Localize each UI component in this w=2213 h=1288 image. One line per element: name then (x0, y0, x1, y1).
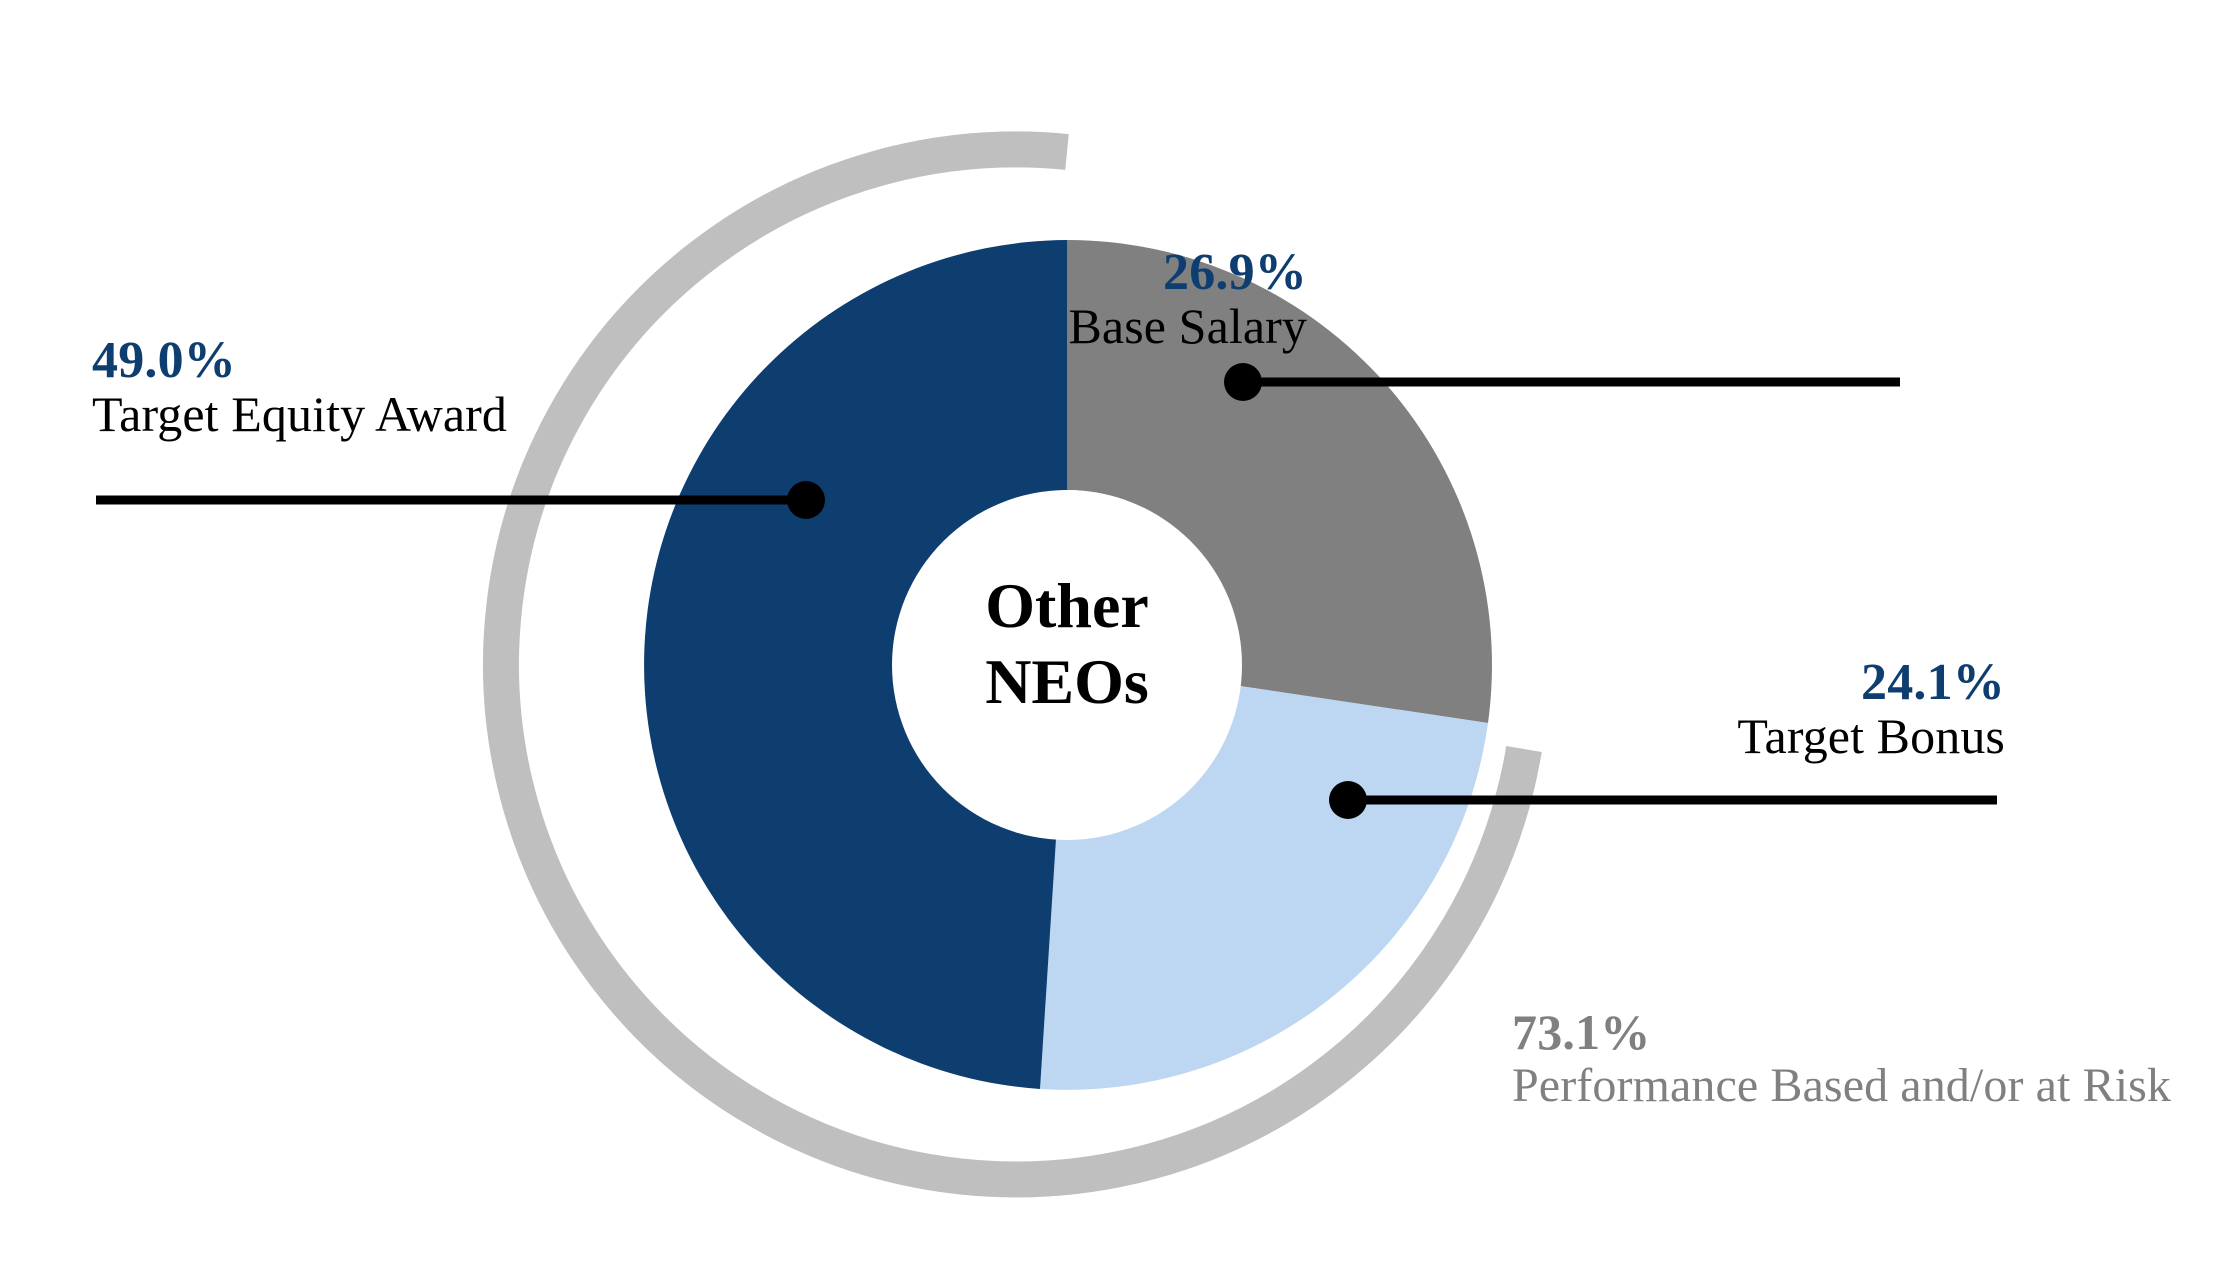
callout-target-bonus-value: 24.1% (1305, 655, 2005, 710)
callout-performance-based-value: 73.1% (1512, 1005, 2192, 1060)
donut-center-hole (892, 490, 1242, 840)
leader-dot-target-bonus (1329, 781, 1367, 819)
callout-performance-based-label: Performance Based and/or at Risk (1512, 1060, 2192, 1113)
callout-target-equity-award-label: Target Equity Award (92, 388, 852, 441)
callout-target-bonus-label: Target Bonus (1305, 710, 2005, 763)
donut-chart: Other NEOs 26.9% Base Salary 49.0% Targe… (0, 0, 2213, 1288)
callout-base-salary-value: 26.9% (607, 245, 1307, 300)
callout-performance-based: 73.1% Performance Based and/or at Risk (1512, 1005, 2192, 1113)
callout-target-equity-award: 49.0% Target Equity Award (92, 333, 852, 441)
callout-target-equity-award-value: 49.0% (92, 333, 852, 388)
leader-dot-target-equity-award (787, 481, 825, 519)
callout-target-bonus: 24.1% Target Bonus (1305, 655, 2005, 763)
leader-dot-base-salary (1224, 363, 1262, 401)
